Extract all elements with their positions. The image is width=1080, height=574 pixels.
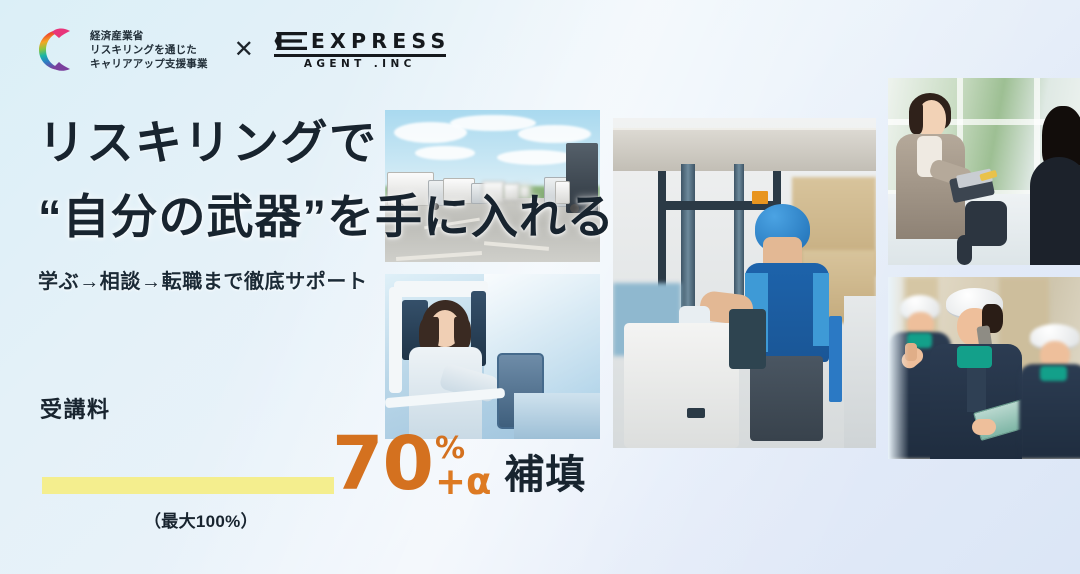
construction-workers-photo [888,277,1080,459]
logo-rule [274,54,446,57]
express-wordmark: EXPRESS [311,31,451,52]
meti-line-3: キャリアアップ支援事業 [90,57,208,71]
price-block: 受講料 70 % +α 補填 （最大100%） [40,392,586,532]
forklift-operator-photo [613,118,876,448]
cross-symbol-icon: ✕ [234,38,254,62]
headline-line-2: “自分の武器”を手に入れる [38,192,615,242]
price-note: （最大100%） [144,507,586,532]
logo-row: 経済産業省 リスキリングを通じた キャリアアップ支援事業 ✕ EXPRESS A… [36,24,446,76]
meti-line-2: リスキリングを通じた [90,43,208,57]
price-figure: 70 % +α 補填 [40,426,586,498]
meti-rainbow-swirl-icon [36,24,82,76]
price-label: 受講料 [40,392,586,424]
career-consultation-photo [888,78,1080,265]
headline-line-1: リスキリングで [38,118,615,168]
price-suffix: 補填 [504,455,586,498]
express-agent-logo: EXPRESS AGENT .INC [274,30,446,70]
price-number: 70 [332,430,433,498]
hero-subcopy: 学ぶ→相談→転職まで徹底サポート [38,265,615,294]
promotional-banner: 経済産業省 リスキリングを通じた キャリアアップ支援事業 ✕ EXPRESS A… [0,0,1080,574]
hero-copy: リスキリングで “自分の武器”を手に入れる 学ぶ→相談→転職まで徹底サポート [38,118,615,294]
meti-logo: 経済産業省 リスキリングを通じた キャリアアップ支援事業 [36,24,208,76]
express-agent-subtitle: AGENT .INC [274,59,446,70]
plus-alpha-label: +α [435,466,491,498]
meti-logo-text: 経済産業省 リスキリングを通じた キャリアアップ支援事業 [90,29,208,71]
meti-line-1: 経済産業省 [90,29,208,43]
yellow-highlight-bar [42,477,334,494]
stylized-e-icon [274,30,308,52]
